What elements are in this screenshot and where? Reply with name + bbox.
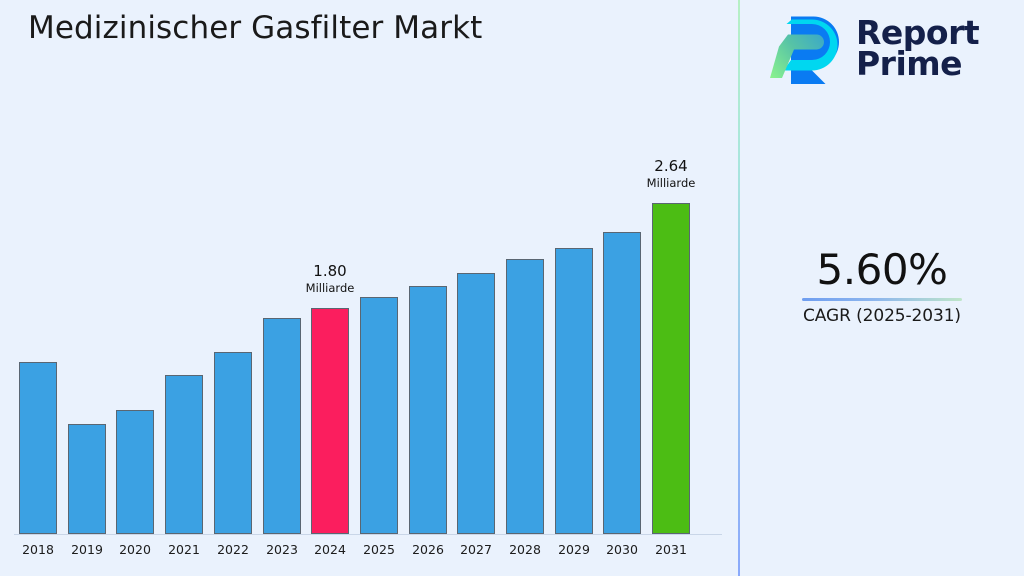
cagr-value: 5.60% <box>740 248 1024 292</box>
bar-2019[interactable] <box>68 424 106 534</box>
bar-2028[interactable] <box>506 259 544 534</box>
chart-panel: Medizinischer Gasfilter Markt 2018201920… <box>0 0 738 576</box>
cagr-block: 5.60% CAGR (2025-2031) <box>740 248 1024 326</box>
bar-2023[interactable] <box>263 318 301 534</box>
bar-value-number-2031: 2.64 <box>654 157 687 175</box>
bar-2024[interactable] <box>311 308 349 534</box>
infographic-root: Medizinischer Gasfilter Markt 2018201920… <box>0 0 1024 576</box>
bar-2027[interactable] <box>457 273 495 534</box>
bar-value-unit-2024: Milliarde <box>270 283 390 295</box>
bar-value-number-2024: 1.80 <box>313 262 346 280</box>
bar-2018[interactable] <box>19 362 57 534</box>
brand-logo[interactable]: Report Prime <box>768 12 979 84</box>
bar-value-label-2031: 2.64Milliarde <box>611 159 731 190</box>
cagr-caption: CAGR (2025-2031) <box>740 306 1024 326</box>
bar-2020[interactable] <box>116 410 154 534</box>
bar-2025[interactable] <box>360 297 398 534</box>
cagr-divider-rule <box>802 298 962 301</box>
brand-panel: Report Prime 5.60% CAGR (2025-2031) <box>740 0 1024 576</box>
bar-2031[interactable] <box>652 203 690 534</box>
bar-2026[interactable] <box>409 286 447 534</box>
report-prime-logo-icon <box>768 12 844 84</box>
bar-2030[interactable] <box>603 232 641 534</box>
bar-2029[interactable] <box>555 248 593 534</box>
x-tick-label-2031: 2031 <box>641 542 701 557</box>
x-axis-line <box>14 534 722 535</box>
bar-2022[interactable] <box>214 352 252 534</box>
bar-chart-plot: 2018201920202021202220231.80Milliarde202… <box>0 0 738 576</box>
bar-2021[interactable] <box>165 375 203 534</box>
bar-value-unit-2031: Milliarde <box>611 178 731 190</box>
brand-name-line-2: Prime <box>856 48 979 79</box>
bar-value-label-2024: 1.80Milliarde <box>270 264 390 295</box>
brand-wordmark: Report Prime <box>856 17 979 79</box>
